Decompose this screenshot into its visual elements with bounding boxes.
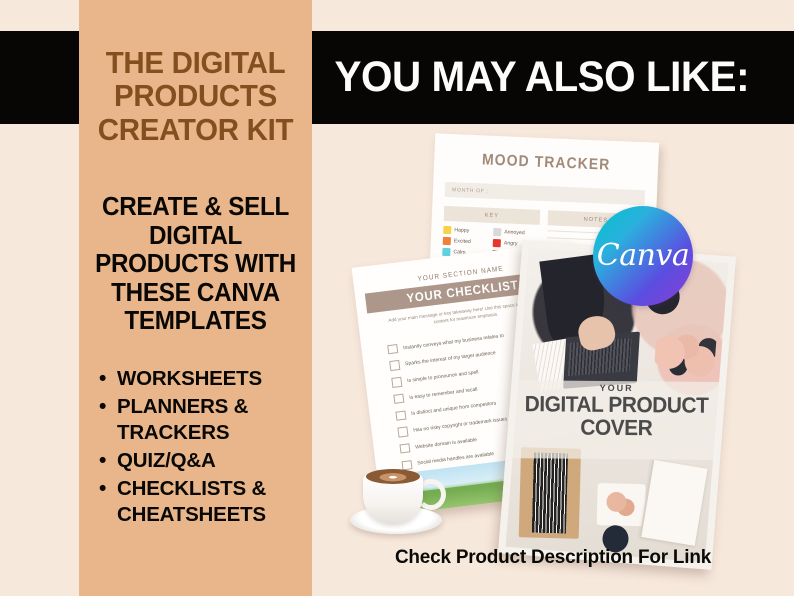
black-bar-right: YOU MAY ALSO LIKE: [312, 31, 794, 124]
poster-canvas: YOU MAY ALSO LIKE: THE DIGITAL PRODUCTS … [0, 0, 794, 596]
checkbox-icon [395, 410, 406, 421]
checkbox-icon [397, 427, 408, 438]
latte-art-shape [366, 469, 420, 484]
product-gallery: MOOD TRACKER MONTH OF : KEY Happy Excite… [312, 124, 794, 596]
swatch-icon [443, 226, 451, 234]
canva-logo-badge: Canva [593, 206, 693, 306]
checkbox-icon [391, 377, 402, 388]
feature-bullet-list: WORKSHEETS PLANNERS & TRACKERS QUIZ/Q&A … [95, 366, 310, 530]
headline-text: YOU MAY ALSO LIKE: [312, 31, 765, 124]
list-item: Excited [443, 237, 489, 247]
mood-key-header: KEY [444, 206, 541, 225]
mood-month-field: MONTH OF : [445, 182, 645, 205]
canva-wordmark: Canva [597, 238, 690, 273]
kit-title: THE DIGITAL PRODUCTS CREATOR KIT [85, 46, 306, 146]
checklist-item-label: Has no risky copyright or trademark issu… [413, 416, 508, 433]
swatch-icon [493, 239, 501, 247]
list-item: CHECKLISTS & CHEATSHEETS [95, 476, 310, 529]
checklist-item-label: Instantly conveys what my business relat… [403, 333, 504, 351]
key-label: Excited [454, 238, 471, 245]
checklist-item-label: Is easy to remember and recall [409, 386, 478, 400]
flowers-shape [653, 330, 717, 383]
list-item: WORKSHEETS [95, 366, 310, 393]
swatch-icon [493, 228, 501, 236]
coffee-cup-photo [350, 444, 442, 536]
key-label: Angry [504, 241, 518, 248]
mood-tracker-title: MOOD TRACKER [445, 150, 647, 176]
notebook-shape [639, 460, 707, 546]
checkbox-icon [393, 394, 404, 405]
checklist-item-label: Is distinct and unique from competitors [411, 401, 497, 417]
checkbox-icon [387, 344, 398, 355]
plate-shape [597, 483, 646, 526]
cover-title-block: YOUR DIGITAL PRODUCT COVER [516, 383, 716, 440]
kit-subtitle: CREATE & SELL DIGITAL PRODUCTS WITH THES… [85, 193, 306, 336]
cta-text: Check Product Description For Link [319, 546, 787, 569]
black-bar-left [0, 31, 80, 124]
key-label: Annoyed [504, 229, 525, 236]
key-label: Happy [454, 227, 469, 234]
checklist-item-label: Is simple to pronounce and spell [407, 369, 479, 384]
checklist-item-label: Sparks the interest of my target audienc… [405, 350, 496, 367]
mood-month-label: MONTH OF : [452, 187, 489, 195]
swatch-icon [443, 237, 451, 245]
cover-line-3: COVER [521, 416, 711, 440]
checkbox-icon [389, 360, 400, 371]
list-item: PLANNERS & TRACKERS [95, 394, 310, 447]
list-item: Happy [443, 226, 489, 236]
keyboard-shape [519, 447, 581, 539]
list-item: QUIZ/Q&A [95, 448, 310, 475]
list-item: Annoyed [493, 228, 539, 238]
